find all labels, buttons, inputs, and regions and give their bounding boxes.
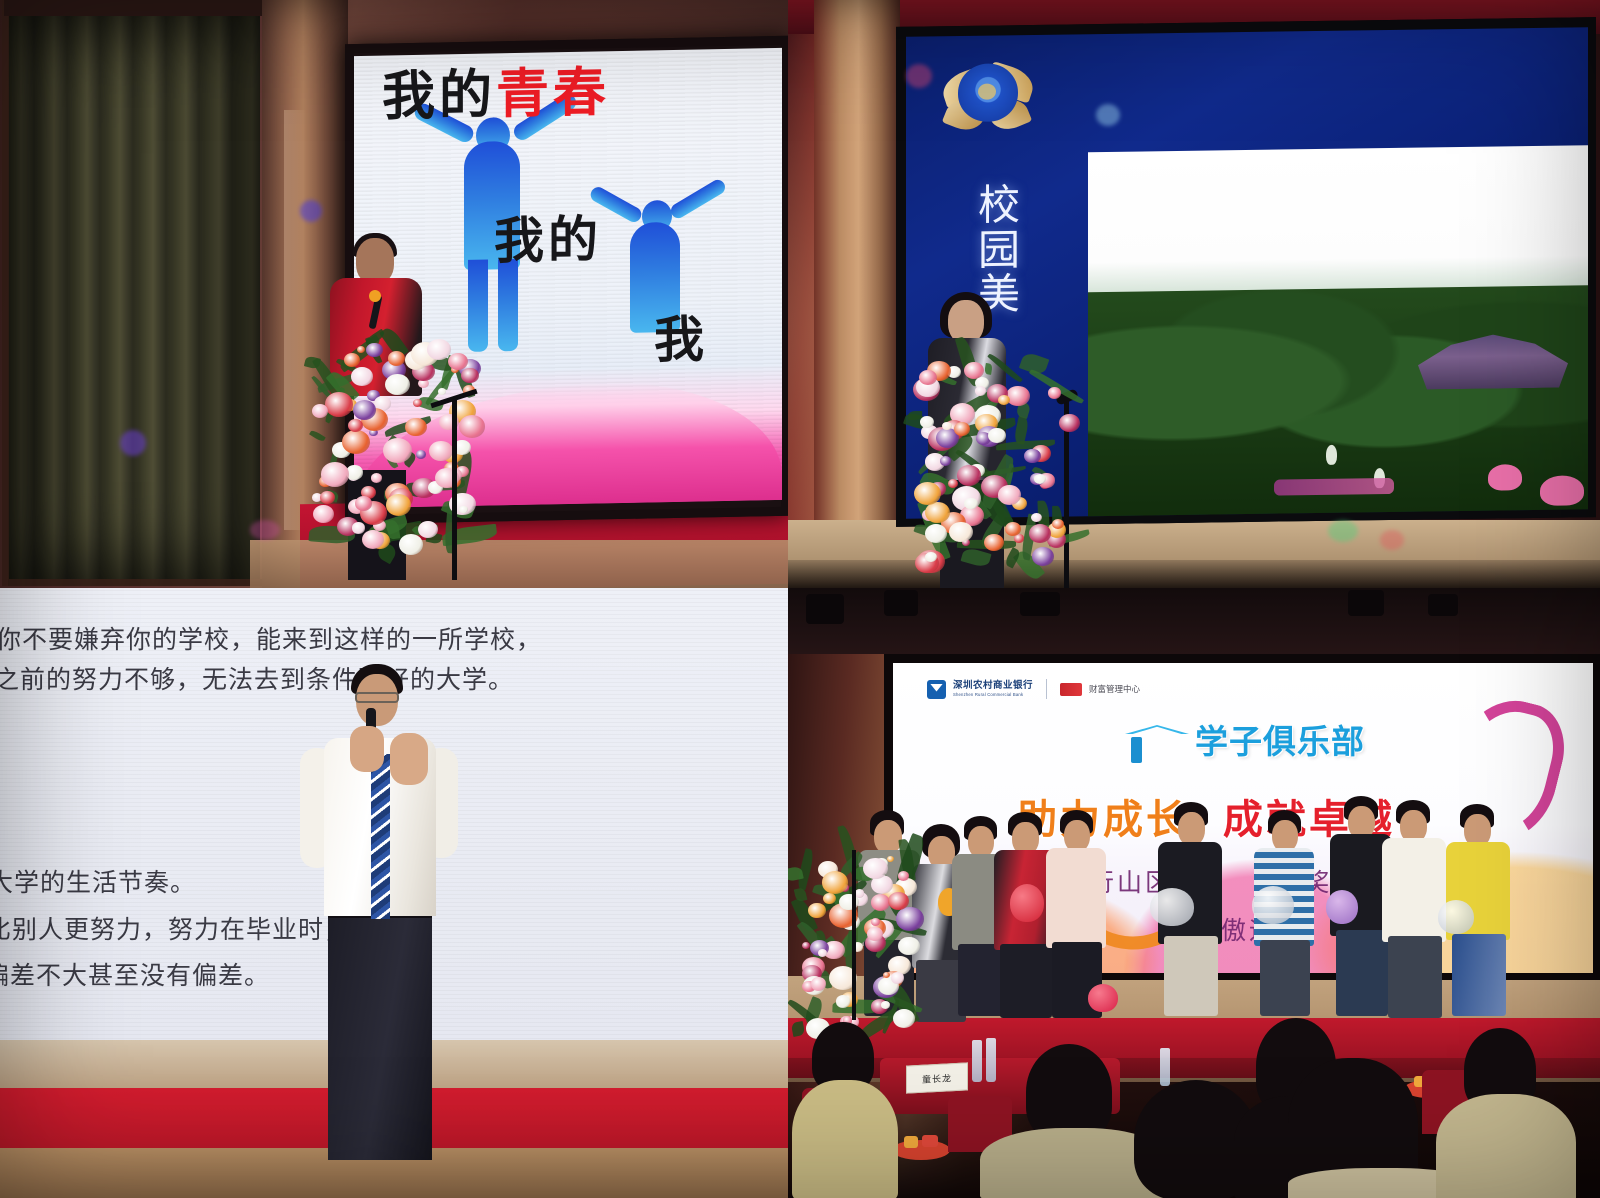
stage-light bbox=[1020, 592, 1060, 616]
curtain-frame bbox=[2, 0, 270, 586]
slide-text-line-2: 之前的努力不够，无法去到条件更好的大学。 bbox=[0, 660, 514, 696]
lens-bokeh bbox=[300, 200, 322, 222]
photo-lotus-bud bbox=[1326, 445, 1337, 465]
stage-light bbox=[884, 590, 918, 616]
slide-title-line1: 我的青春 bbox=[382, 65, 610, 125]
photo-foreground-blur bbox=[1274, 478, 1394, 496]
lens-bokeh bbox=[120, 430, 146, 456]
stage-light bbox=[1428, 594, 1458, 616]
lens-bokeh bbox=[906, 64, 932, 88]
slide-text-line-4: 比别人更努力，努力在毕业时， bbox=[0, 910, 350, 946]
microphone-stand bbox=[852, 850, 856, 1020]
microphone-grip bbox=[369, 290, 381, 302]
water-bottle bbox=[972, 1040, 982, 1082]
speaker-hand bbox=[390, 733, 428, 785]
water-bottle bbox=[986, 1038, 996, 1082]
fruit-piece bbox=[922, 1135, 938, 1147]
lens-bokeh bbox=[250, 520, 280, 540]
slide-title-black: 我的 bbox=[382, 64, 496, 127]
flower-bouquet bbox=[906, 352, 1066, 562]
photo-panel-top-left: 我的青春 我的 我 bbox=[0, 0, 788, 588]
sponsor-logo-group: 深圳农村商业银行 Shenzhen Rural Commercial Bank … bbox=[927, 679, 1140, 699]
logo-divider bbox=[1046, 679, 1047, 699]
stage-floor bbox=[250, 540, 788, 588]
lens-bokeh bbox=[1380, 530, 1404, 550]
slide-title-line3: 我 bbox=[654, 299, 708, 372]
curtain-rod bbox=[4, 0, 266, 16]
partner-logo-icon bbox=[1060, 683, 1082, 696]
speaker-striped-tie bbox=[371, 754, 390, 919]
silhouette-arm bbox=[668, 177, 727, 221]
photo-lotus-flower bbox=[1540, 475, 1584, 506]
bank-name-cn: 深圳农村商业银行 bbox=[953, 681, 1033, 691]
lens-bokeh bbox=[1096, 104, 1120, 126]
photo-collage: 我的青春 我的 我 bbox=[0, 0, 1600, 1198]
photo-panel-bottom-left: 你不要嫌弃你的学校，能来到这样的一所学校， 之前的努力不够，无法去到条件更好的大… bbox=[0, 588, 788, 1198]
fruit-piece bbox=[904, 1136, 918, 1148]
slide-title-red: 青春 bbox=[496, 62, 610, 125]
photo-panel-top-right: 校园美 bbox=[788, 0, 1600, 588]
marble-pillar bbox=[814, 0, 900, 588]
photo-lotus-flower bbox=[1488, 464, 1522, 490]
photo-panel-bottom-right: 深圳农村商业银行 Shenzhen Rural Commercial Bank … bbox=[788, 588, 1600, 1198]
name-placard: 童长龙 bbox=[906, 1062, 968, 1093]
club-roof-icon bbox=[1125, 719, 1191, 763]
bank-name-en: Shenzhen Rural Commercial Bank bbox=[953, 692, 1033, 697]
slide-title-line2: 我的 bbox=[494, 199, 602, 273]
bank-logo-icon bbox=[927, 680, 946, 699]
audience-head bbox=[1026, 1044, 1112, 1140]
slogan-part-1: 助力成长 bbox=[1017, 797, 1189, 843]
speaker-trousers bbox=[328, 910, 432, 1160]
flower-bouquet bbox=[300, 330, 470, 545]
slide-text-line-5: 偏差不大甚至没有偏差。 bbox=[0, 956, 270, 992]
microphone-stand bbox=[452, 400, 457, 580]
club-name: 学子俱乐部 bbox=[1195, 715, 1365, 763]
speaker-glasses bbox=[355, 692, 399, 703]
partner-logo-text: 财富管理中心 bbox=[1089, 683, 1140, 695]
audience-shoulders bbox=[1436, 1094, 1576, 1198]
speaker-hand bbox=[350, 726, 384, 772]
stage-balloon bbox=[1088, 984, 1118, 1012]
water-bottle bbox=[1160, 1048, 1170, 1086]
slide-inner-photo bbox=[1088, 145, 1588, 519]
stage-light bbox=[1348, 590, 1384, 616]
lens-bokeh bbox=[1328, 520, 1358, 542]
flower-ornament-icon bbox=[932, 49, 1044, 147]
stage-light bbox=[806, 594, 844, 624]
slide-text-line-3: 大学的生活节奏。 bbox=[0, 863, 196, 899]
club-logo-group: 学子俱乐部 bbox=[1125, 715, 1365, 763]
slide-text-line-1: 你不要嫌弃你的学校，能来到这样的一所学校， bbox=[0, 620, 542, 656]
silhouette-leg bbox=[468, 260, 488, 352]
floor-shadow bbox=[788, 560, 1600, 588]
audience-shoulders bbox=[792, 1080, 898, 1198]
slide-vertical-title: 校园美 bbox=[978, 183, 1028, 317]
bank-logo-text: 深圳农村商业银行 Shenzhen Rural Commercial Bank bbox=[953, 681, 1033, 696]
flower-bouquet bbox=[792, 848, 902, 1028]
fruit-plate bbox=[892, 1140, 950, 1160]
